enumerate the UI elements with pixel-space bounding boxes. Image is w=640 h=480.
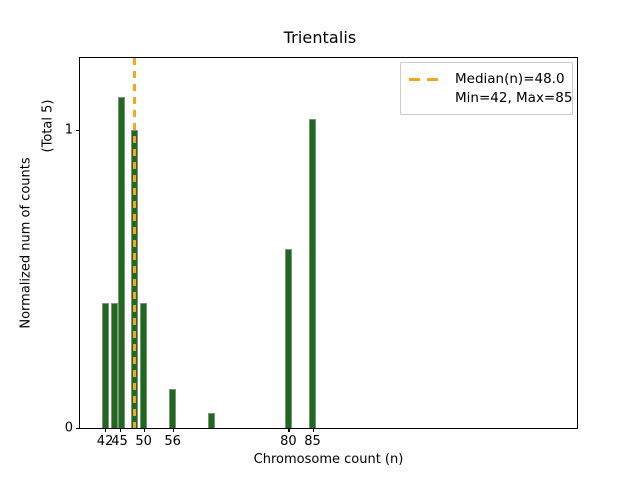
x-tick-label: 56 <box>164 434 181 449</box>
legend-item-median: Median(n)=48.0 <box>409 69 564 88</box>
x-tick-mark <box>288 428 289 432</box>
y-tick-mark <box>76 428 80 429</box>
legend-item-median-label: Median(n)=48.0 <box>455 71 565 87</box>
legend-item-range-label: Min=42, Max=85 <box>455 90 572 106</box>
x-tick-label: 80 <box>280 434 297 449</box>
y-tick-label: 0 <box>65 421 73 436</box>
y-axis-total-annotation: (Total 5) <box>41 100 56 153</box>
x-tick-label: 45 <box>111 434 128 449</box>
chart-figure: Trientalis Normalized num of counts (Tot… <box>0 0 640 480</box>
x-tick-mark <box>173 428 174 432</box>
x-tick-mark <box>120 428 121 432</box>
x-tick-label: 85 <box>304 434 321 449</box>
x-tick-mark <box>313 428 314 432</box>
legend: Median(n)=48.0 Min=42, Max=85 <box>400 62 573 115</box>
x-axis-label: Chromosome count (n) <box>79 452 578 467</box>
x-tick-label: 50 <box>135 434 152 449</box>
x-tick-mark <box>105 428 106 432</box>
dashed-line-icon <box>409 73 445 85</box>
legend-item-range: Min=42, Max=85 <box>409 88 564 107</box>
median-line <box>133 58 136 428</box>
y-tick-mark <box>76 130 80 131</box>
y-axis-label: Normalized num of counts <box>19 157 34 328</box>
page-title: Trientalis <box>0 28 640 47</box>
y-tick-label: 1 <box>65 122 73 137</box>
x-tick-mark <box>144 428 145 432</box>
